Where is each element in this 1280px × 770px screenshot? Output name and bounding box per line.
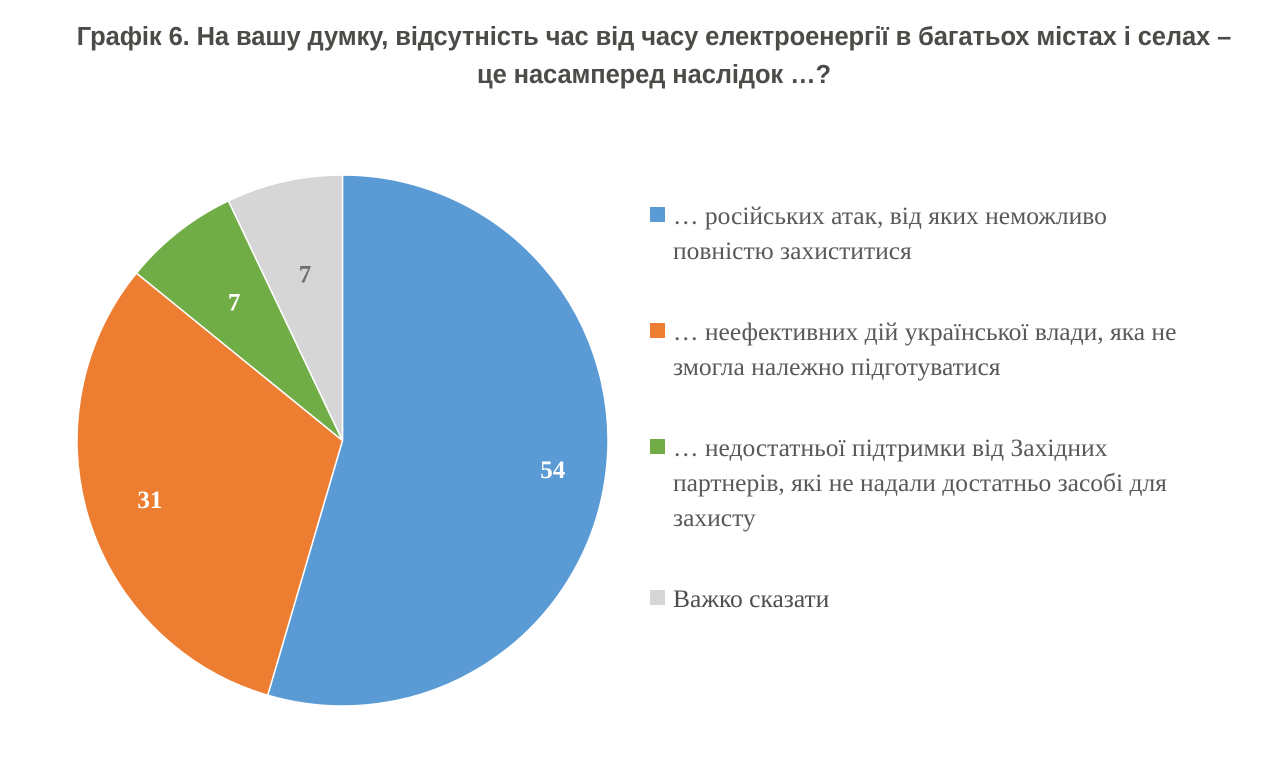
legend-label-ineffective-government: … неефективних дій української влади, як… [673,314,1178,384]
chart-legend: … російських атак, від яких неможливо по… [650,198,1210,616]
pie-chart-svg: 543177 [77,175,608,706]
pie-data-label-insufficient-western-support: 7 [228,289,241,316]
legend-swatch-orange [650,323,665,338]
legend-label-hard-to-say: Важко сказати [673,581,829,616]
pie-data-label-hard-to-say: 7 [299,261,312,288]
legend-item-russian-attacks[interactable]: … російських атак, від яких неможливо по… [650,198,1210,268]
legend-swatch-gray [650,590,665,605]
legend-label-insufficient-western-support: … недостатньої підтримки від Західних па… [673,430,1178,535]
chart-title: Графік 6. На вашу думку, відсутність час… [64,18,1244,94]
pie-data-label-russian-attacks: 54 [540,457,566,484]
legend-item-hard-to-say[interactable]: Важко сказати [650,581,1210,616]
legend-item-ineffective-government[interactable]: … неефективних дій української влади, як… [650,314,1210,384]
legend-label-russian-attacks: … російських атак, від яких неможливо по… [673,198,1178,268]
pie-slice-group [77,175,608,706]
legend-swatch-green [650,439,665,454]
legend-item-insufficient-western-support[interactable]: … недостатньої підтримки від Західних па… [650,430,1210,535]
pie-data-label-ineffective-government: 31 [137,487,162,514]
legend-swatch-blue [650,207,665,222]
pie-chart: 543177 [77,175,608,706]
